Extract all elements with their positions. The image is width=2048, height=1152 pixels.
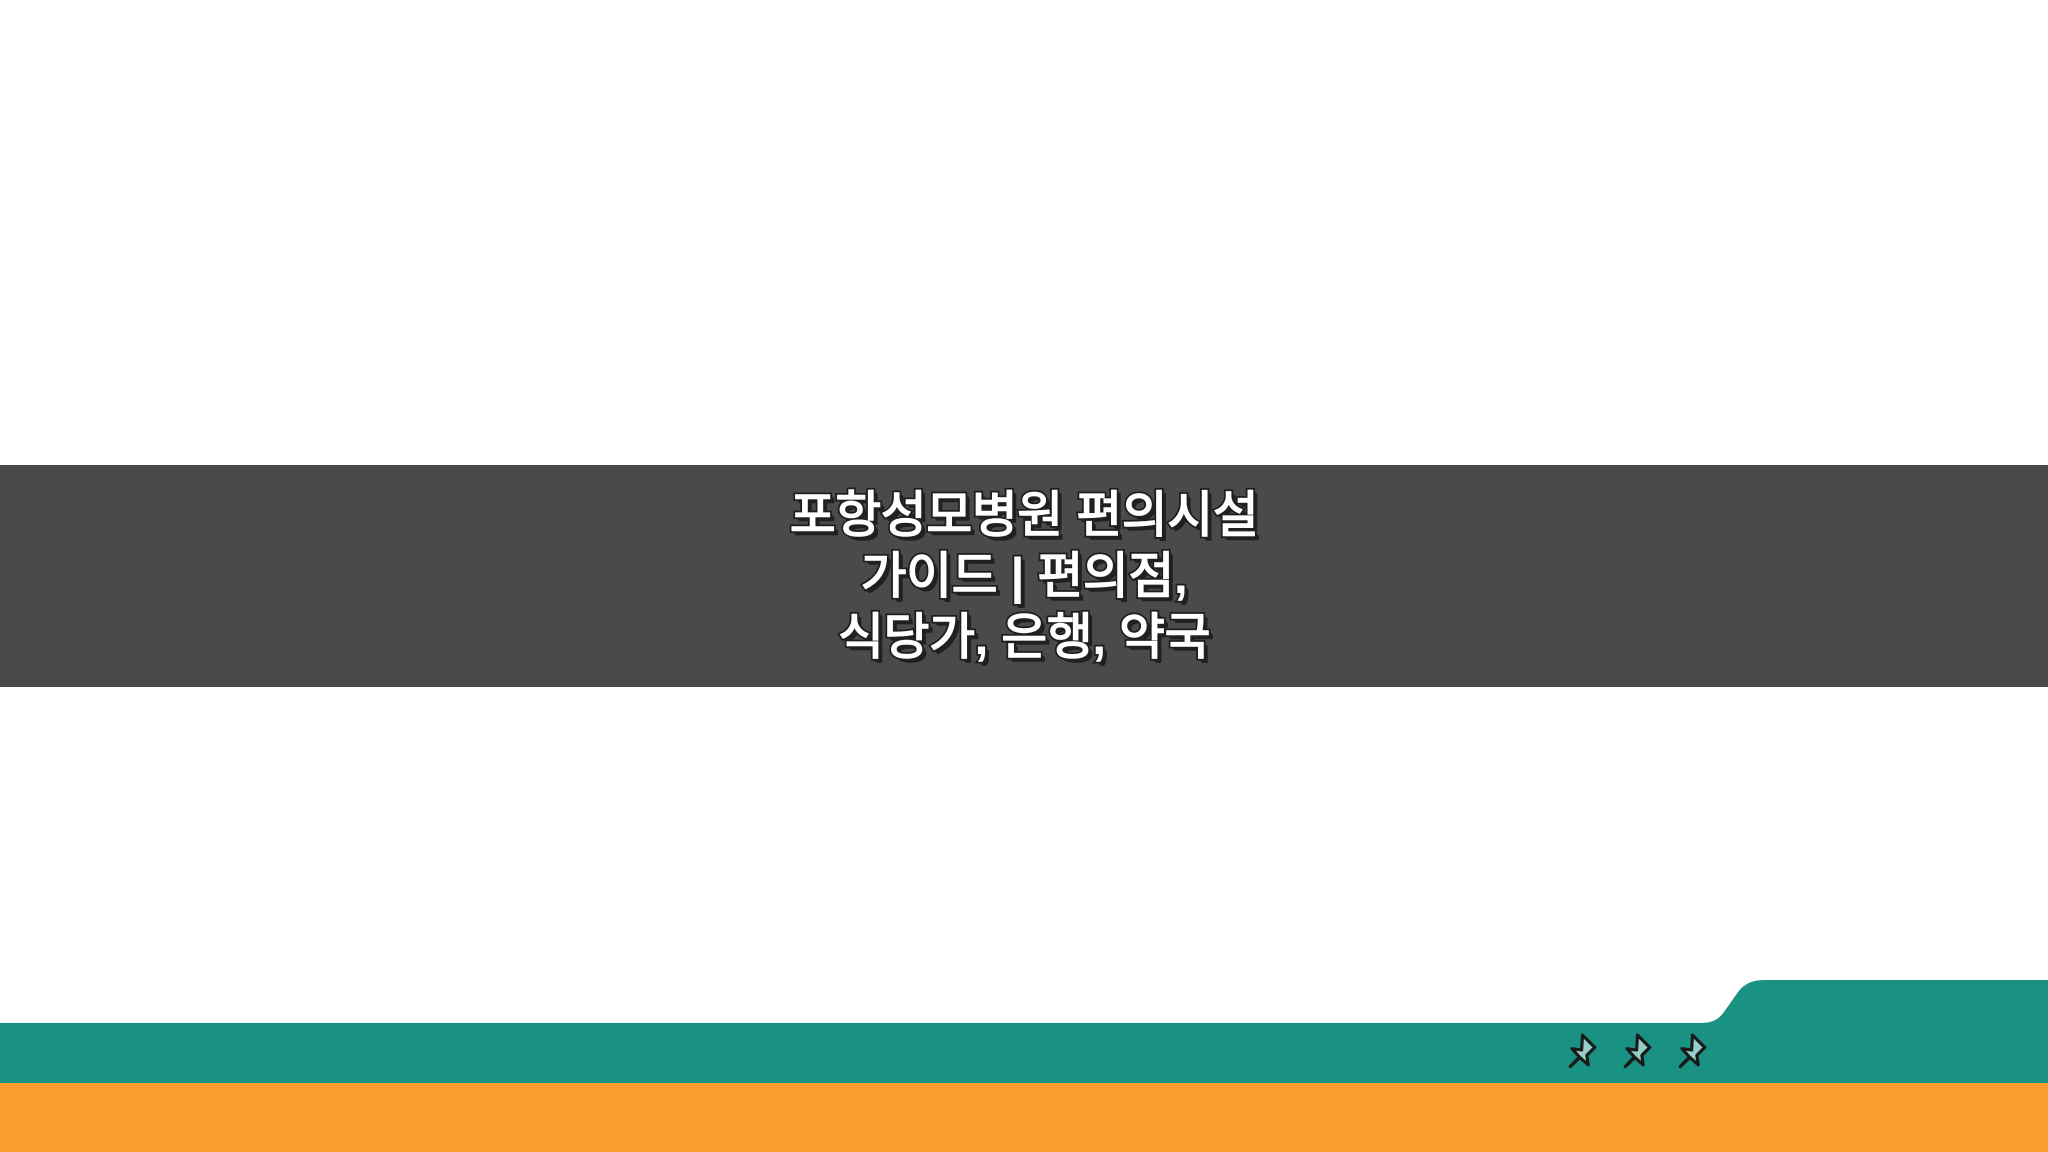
- pushpin-icon: [1613, 1029, 1655, 1071]
- title-line-1: 포항성모병원 편의시설: [790, 485, 1258, 546]
- pushpin-icon-row: [1558, 1026, 1718, 1074]
- page-canvas: 포항성모병원 편의시설 가이드 | 편의점, 식당가, 은행, 약국: [0, 0, 2048, 1152]
- title-line-2: 가이드 | 편의점,: [861, 546, 1188, 607]
- pushpin-icon: [1558, 1029, 1600, 1071]
- middle-whitespace: [0, 687, 2048, 1023]
- orange-footer-band: [0, 1083, 2048, 1152]
- teal-shape: [0, 980, 2048, 1085]
- title-banner: 포항성모병원 편의시설 가이드 | 편의점, 식당가, 은행, 약국: [0, 465, 2048, 687]
- title-line-3: 식당가, 은행, 약국: [838, 607, 1210, 668]
- teal-footer-band: [0, 980, 2048, 1085]
- top-whitespace: [0, 0, 2048, 465]
- pushpin-icon: [1668, 1029, 1710, 1071]
